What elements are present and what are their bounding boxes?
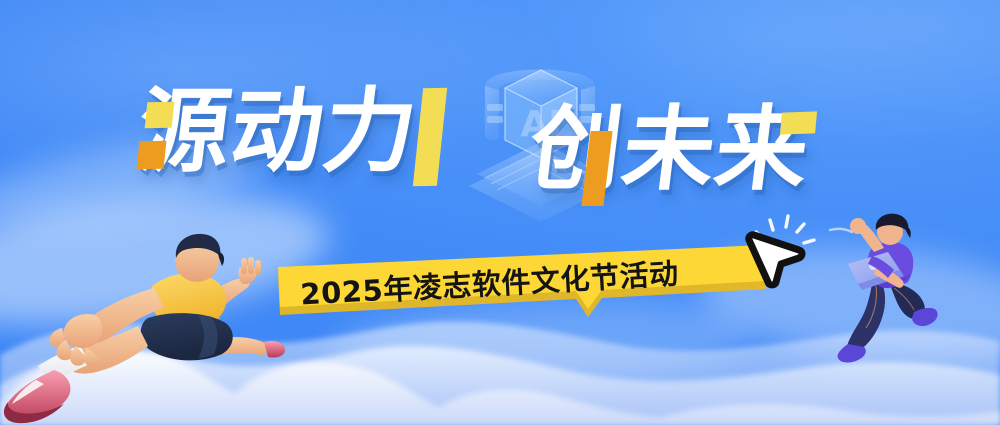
accent-chip-yuan-dot-upper <box>145 102 175 128</box>
headline: 源动力 创未来 <box>0 0 1000 425</box>
headline-part-one: 源动力 <box>132 86 422 178</box>
ai-chip-label: AI <box>520 104 561 145</box>
accent-chip-dong-stroke <box>413 88 447 186</box>
sky-glow <box>0 0 1000 425</box>
cloud-wisp <box>0 124 264 245</box>
festival-banner: AI 源动力 创未来 2025年凌志软件文化节活动 <box>0 0 1000 425</box>
runner-with-laptop-character <box>828 208 978 373</box>
accent-chip-yuan-dot-lower <box>136 141 166 169</box>
ai-chip-graphic: AI <box>455 38 625 228</box>
headline-part-two: 创未来 <box>524 104 814 196</box>
runner-3d-character <box>0 222 310 425</box>
accent-chip-chuang-radical <box>581 131 612 206</box>
subtitle-ribbon: 2025年凌志软件文化节活动 <box>272 243 772 321</box>
accent-chip-lai-stroke <box>780 111 817 134</box>
